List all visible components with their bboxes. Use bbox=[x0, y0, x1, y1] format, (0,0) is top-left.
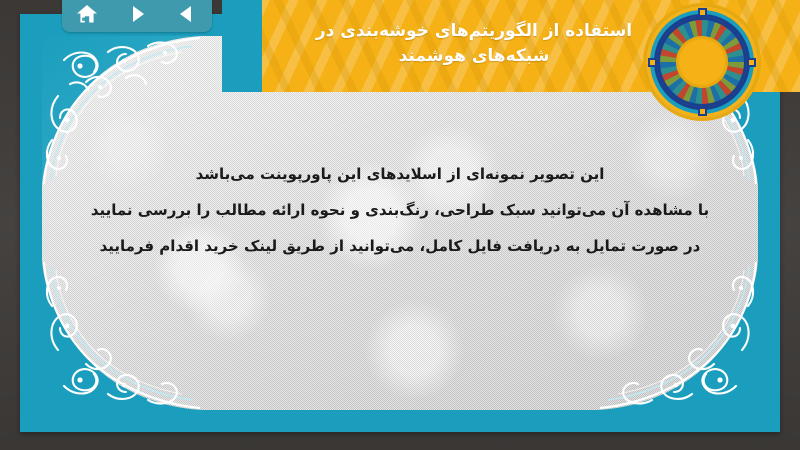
arabesque-corner-ornament-bottom-right bbox=[598, 260, 758, 410]
body-line-3: در صورت تمایل به دریافت فایل کامل، می‌تو… bbox=[82, 228, 718, 264]
medallion-tab-right bbox=[747, 58, 756, 67]
arabesque-corner-ornament-bottom-left bbox=[42, 260, 202, 410]
forward-triangle-icon bbox=[127, 4, 147, 24]
slide-body-text: این تصویر نمونه‌ای از اسلایدهای این پاور… bbox=[82, 156, 718, 264]
islamic-medallion-ornament bbox=[646, 6, 758, 118]
medallion-tab-top bbox=[698, 8, 707, 17]
medallion-tab-left bbox=[648, 58, 657, 67]
body-line-1: این تصویر نمونه‌ای از اسلایدهای این پاور… bbox=[82, 156, 718, 192]
navigation-bar bbox=[62, 0, 212, 32]
medallion-tab-bottom bbox=[698, 107, 707, 116]
title-line-3: شبکه‌های هوشمند bbox=[399, 44, 550, 70]
body-line-2: با مشاهده آن می‌توانید سبک طراحی، رنگ‌بن… bbox=[82, 192, 718, 228]
medallion-center bbox=[679, 39, 725, 85]
home-icon bbox=[76, 4, 98, 24]
title-line-2: استفاده از الگوریتم‌های خوشه‌بندی در bbox=[316, 19, 632, 45]
back-triangle-icon bbox=[177, 4, 197, 24]
forward-button[interactable] bbox=[120, 0, 154, 28]
slide-content-area: این تصویر نمونه‌ای از اسلایدهای این پاور… bbox=[42, 36, 758, 410]
back-button[interactable] bbox=[170, 0, 204, 28]
home-button[interactable] bbox=[70, 0, 104, 28]
